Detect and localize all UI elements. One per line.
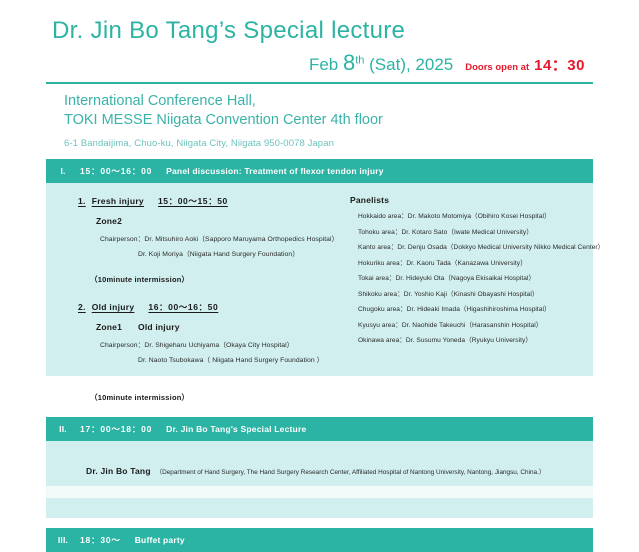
program-2-number: 2. <box>78 302 86 312</box>
date-rest: (Sat), 2025 <box>369 55 453 74</box>
page-title: Dr. Jin Bo Tang’s Special lecture <box>52 16 639 46</box>
session-3-time: 18：30～ <box>80 534 121 546</box>
session-1-title: Panel discussion: Treatment of flexor te… <box>166 166 384 176</box>
session-2-title: Dr. Jin Bo Tang's Special Lecture <box>166 424 306 434</box>
venue-line-2: TOKI MESSE Niigata Convention Center 4th… <box>64 111 639 131</box>
panelists-panel: Panelists Hokkaido area：Dr. Makoto Motom… <box>346 195 604 364</box>
session-2-time: 17：00～18：00 <box>80 423 152 435</box>
session-1-roman: I. <box>46 166 80 176</box>
panelist-item: Okinawa area：Dr. Susumu Yoneda（Ryukyu Un… <box>358 334 604 344</box>
date-ordinal-suffix: th <box>355 54 364 66</box>
panelist-item: Hokkaido area：Dr. Makoto Motomiya（Obihir… <box>358 210 604 220</box>
program-block-1: 1.Fresh injury15：00～15：50 Zone2 Chairper… <box>78 195 346 285</box>
program-1-name: Fresh injury <box>92 196 144 206</box>
doors-open-note: Doors open at 14：30 <box>465 54 585 75</box>
program-2-name: Old injury <box>92 302 135 312</box>
page-header: Dr. Jin Bo Tang’s Special lecture Feb 8t… <box>0 0 639 149</box>
session-1-programs: 1.Fresh injury15：00～15：50 Zone2 Chairper… <box>46 195 346 364</box>
session-2-body: Dr. Jin Bo Tang（Department of Hand Surge… <box>46 441 593 518</box>
program-2-zone-label: Zone1 <box>96 322 122 332</box>
date-row: Feb 8th (Sat), 2025 Doors open at 14：30 <box>0 50 585 76</box>
program-1-zone-label: Zone2 <box>96 216 122 226</box>
date-day: 8 <box>343 50 355 75</box>
session-1-time: 15：00～16：00 <box>80 165 152 177</box>
program-2-chairperson-1: Chairperson：Dr. Shigeharu Uchiyama（Okaya… <box>100 339 346 349</box>
panelist-item: Shikoku area：Dr. Yoshio Kaji（Kinashi Oba… <box>358 288 604 298</box>
panelist-item: Kanto area：Dr. Denju Osada（Dokkyo Medica… <box>358 241 604 251</box>
panelists-title: Panelists <box>350 195 604 205</box>
panelist-item: Hokuriku area：Dr. Kaoru Tada（Kanazawa Un… <box>358 257 604 267</box>
program-2-zone-note: Old injury <box>138 322 180 332</box>
session-2: II. 17：00～18：00 Dr. Jin Bo Tang's Specia… <box>46 417 593 518</box>
program-block-2: 2.Old injury16：00～16：50 Zone1Old injury … <box>78 301 346 364</box>
panelist-item: Chugoku area：Dr. Hideaki Imada（Higashihi… <box>358 303 604 313</box>
program-2-time: 16：00～16：50 <box>148 302 218 312</box>
spacer <box>0 149 639 159</box>
venue-block: International Conference Hall, TOKI MESS… <box>64 92 639 149</box>
program-2-heading: 2.Old injury16：00～16：50 <box>78 301 346 313</box>
session-3-header: III. 18：30～ Buffet party <box>46 528 593 552</box>
page-bottom-edge <box>46 486 593 498</box>
session-3-title: Buffet party <box>135 535 185 545</box>
session-2-header: II. 17：00～18：00 Dr. Jin Bo Tang's Specia… <box>46 417 593 441</box>
program-1-intermission: （10minute intermission） <box>90 274 346 285</box>
program-1-number: 1. <box>78 196 86 206</box>
header-divider <box>46 82 593 84</box>
session-1-body: 1.Fresh injury15：00～15：50 Zone2 Chairper… <box>46 183 593 376</box>
session-1-header: I. 15：00～16：00 Panel discussion: Treatme… <box>46 159 593 183</box>
session-1: I. 15：00～16：00 Panel discussion: Treatme… <box>46 159 593 376</box>
lecturer-affiliation: （Department of Hand Surgery, The Hand Su… <box>156 469 546 476</box>
program-1-heading: 1.Fresh injury15：00～15：50 <box>78 195 346 207</box>
panelist-item: Kyusyu area：Dr. Naohide Takeuchi（Harasan… <box>358 319 604 329</box>
program-2-zone: Zone1Old injury <box>96 322 346 332</box>
session-3-roman: III. <box>46 535 80 545</box>
doors-open-label: Doors open at <box>465 62 529 73</box>
program-1-zone: Zone2 <box>96 216 346 226</box>
event-date: Feb 8th (Sat), 2025 <box>309 50 453 76</box>
panelist-item: Tohoku area：Dr. Kotaro Sato（Iwate Medica… <box>358 226 604 236</box>
venue-line-1: International Conference Hall, <box>64 92 639 112</box>
program-1-time: 15：00～15：50 <box>158 196 228 206</box>
venue-address: 6-1 Bandaijima, Chuo-ku, Niigata City, N… <box>64 138 639 149</box>
session-3: III. 18：30～ Buffet party <box>46 528 593 552</box>
lecturer-name: Dr. Jin Bo Tang <box>86 466 151 476</box>
lecturer-row: Dr. Jin Bo Tang（Department of Hand Surge… <box>86 461 593 479</box>
date-month: Feb <box>309 55 338 74</box>
program-1-chairperson-1: Chairperson：Dr. Mitsuhiro Aoki（Sapporo M… <box>100 233 346 243</box>
program-1-chairperson-2: Dr. Koji Moriya（Niigata Hand Surgery Fou… <box>138 248 346 258</box>
session-gap-intermission: （10minute intermission） <box>46 376 593 417</box>
spacer <box>78 285 346 301</box>
session-2-roman: II. <box>46 424 80 434</box>
doors-open-time: 14：30 <box>534 54 585 75</box>
program-2-chairperson-2: Dr. Naoto Tsubokawa（ Niigata Hand Surger… <box>138 354 346 364</box>
panelist-item: Tokai area：Dr. Hideyuki Ota（Nagoya Ekisa… <box>358 272 604 282</box>
spacer <box>0 518 639 528</box>
